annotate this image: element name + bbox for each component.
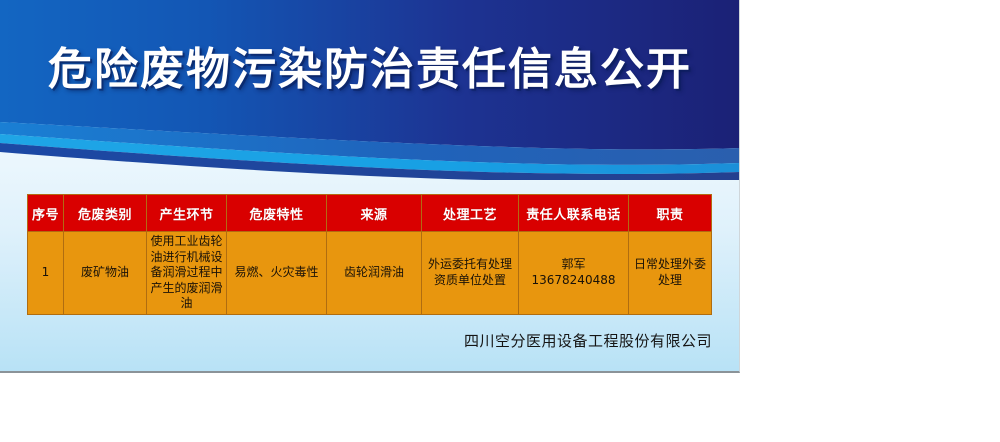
cell-contact: 郭军 13678240488 [519,232,629,315]
banner: 危险废物污染防治责任信息公开 [0,0,740,180]
cell-characteristic: 易燃、火灾毒性 [227,232,327,315]
cell-source: 齿轮润滑油 [327,232,422,315]
column-header-process: 处理工艺 [422,195,519,232]
hazardous-waste-table-container: 序号 危废类别 产生环节 危废特性 来源 处理工艺 责任人联系电话 职责 1 废… [27,194,711,315]
poster-panel: 危险废物污染防治责任信息公开 序号 危废类别 产生环节 危废特性 来源 处理工艺… [0,0,740,373]
column-header-characteristic: 危废特性 [227,195,327,232]
cell-seq: 1 [28,232,64,315]
table-row: 1 废矿物油 使用工业齿轮油进行机械设备润滑过程中产生的废润滑油 易燃、火灾毒性… [28,232,712,315]
contact-person-phone: 13678240488 [522,273,625,289]
cell-process: 外运委托有处理资质单位处置 [422,232,519,315]
contact-person-name: 郭军 [522,257,625,273]
column-header-stage: 产生环节 [147,195,227,232]
page-title: 危险废物污染防治责任信息公开 [0,48,740,92]
company-name: 四川空分医用设备工程股份有限公司 [0,330,712,351]
column-header-duty: 职责 [629,195,712,232]
column-header-contact: 责任人联系电话 [519,195,629,232]
hazardous-waste-table: 序号 危废类别 产生环节 危废特性 来源 处理工艺 责任人联系电话 职责 1 废… [27,194,712,315]
cell-stage: 使用工业齿轮油进行机械设备润滑过程中产生的废润滑油 [147,232,227,315]
table-header-row: 序号 危废类别 产生环节 危废特性 来源 处理工艺 责任人联系电话 职责 [28,195,712,232]
column-header-category: 危废类别 [64,195,147,232]
column-header-seq: 序号 [28,195,64,232]
cell-category: 废矿物油 [64,232,147,315]
column-header-source: 来源 [327,195,422,232]
cell-duty: 日常处理外委处理 [629,232,712,315]
